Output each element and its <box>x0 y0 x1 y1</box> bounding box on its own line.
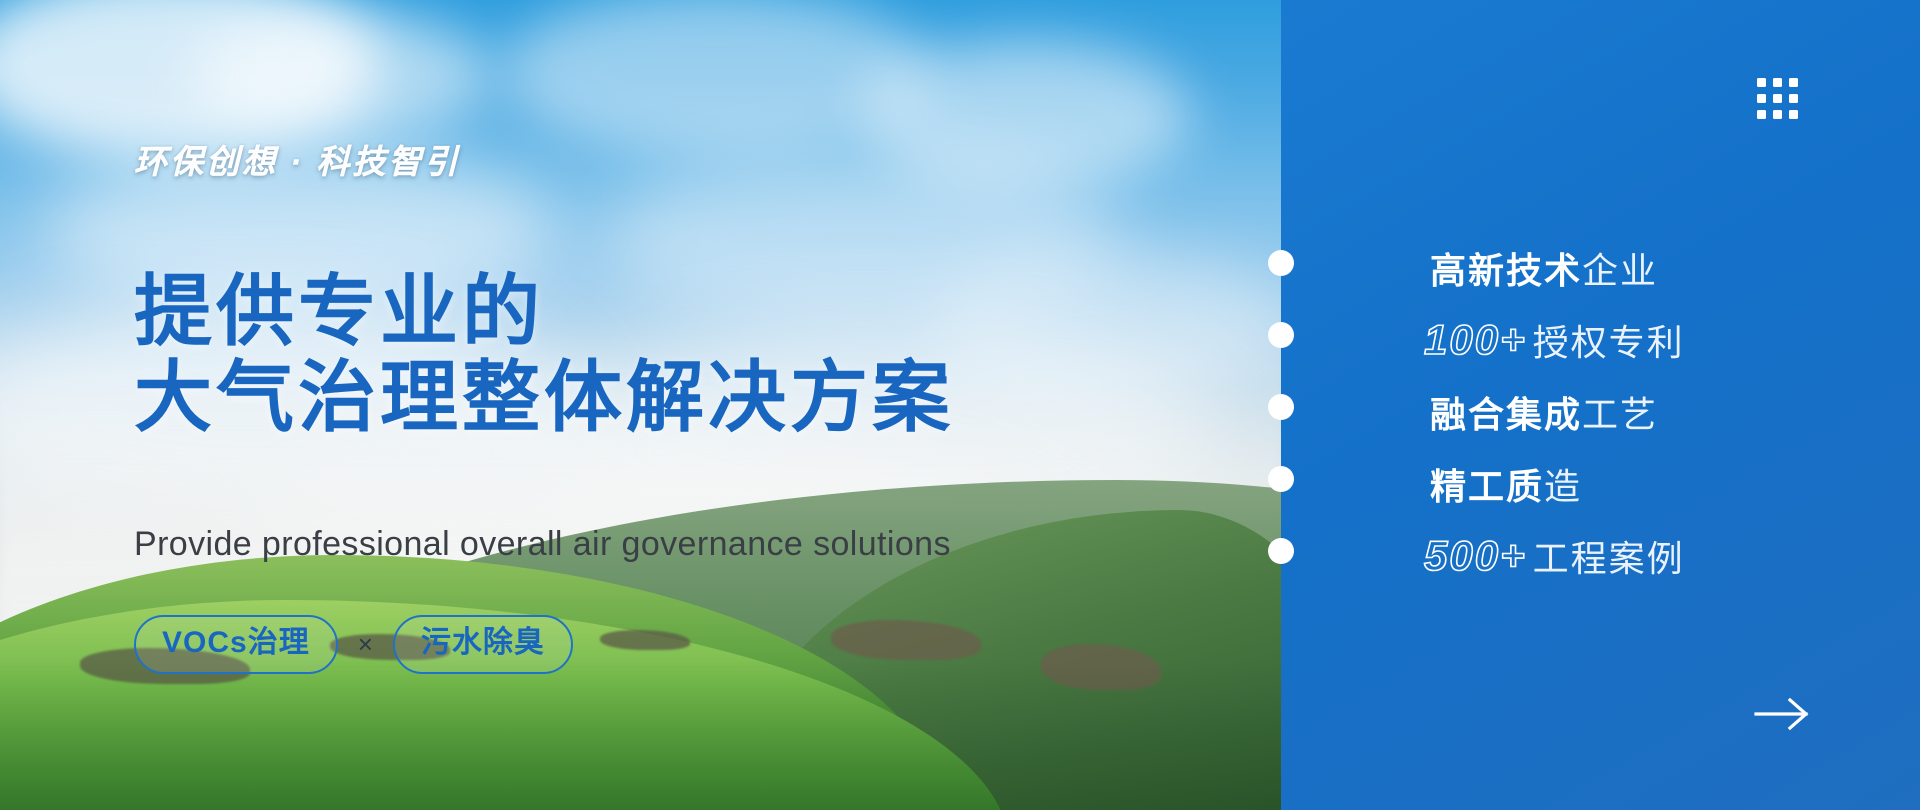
page-title: 提供专业的 大气治理整体解决方案 <box>134 268 954 440</box>
list-item: 高新技术 企业 <box>1424 232 1685 304</box>
tag-pill-group: VOCs治理 × 污水除臭 <box>134 615 573 674</box>
pill-separator: × <box>358 629 373 660</box>
grid-dot <box>1773 94 1782 103</box>
feature-light: 工程案例 <box>1533 530 1685 582</box>
edge-dot <box>1268 538 1294 564</box>
grid-dot <box>1789 94 1798 103</box>
edge-dot <box>1268 250 1294 276</box>
edge-dot <box>1268 466 1294 492</box>
grid-menu-icon[interactable] <box>1757 78 1798 119</box>
feature-number: 500+ <box>1424 532 1527 580</box>
pill-deodorization[interactable]: 污水除臭 <box>393 615 573 674</box>
list-item: 100+ 授权专利 <box>1424 304 1685 376</box>
grid-dot <box>1773 78 1782 87</box>
hero-banner: 环保创想 · 科技智引 提供专业的 大气治理整体解决方案 Provide pro… <box>0 0 1920 810</box>
grid-dot <box>1757 78 1766 87</box>
list-item: 精工质 造 <box>1424 448 1685 520</box>
grid-dot <box>1789 110 1798 119</box>
grid-dot <box>1789 78 1798 87</box>
feature-strong: 高新技术 <box>1430 242 1582 294</box>
tagline: 环保创想 · 科技智引 <box>134 135 460 183</box>
headline-line-2: 大气治理整体解决方案 <box>134 354 954 440</box>
feature-number: 100+ <box>1424 316 1527 364</box>
subheadline: Provide professional overall air governa… <box>134 525 951 564</box>
edge-dot <box>1268 322 1294 348</box>
headline-line-1: 提供专业的 <box>134 268 954 354</box>
grid-dot <box>1757 110 1766 119</box>
list-item: 融合集成 工艺 <box>1424 376 1685 448</box>
grid-dot <box>1773 110 1782 119</box>
panel-edge-dots <box>1268 0 1294 810</box>
feature-light: 授权专利 <box>1533 314 1685 366</box>
feature-light: 企业 <box>1582 242 1658 294</box>
feature-list: 高新技术 企业 100+ 授权专利 融合集成 工艺 精工质 造 500+ <box>1424 232 1685 592</box>
pill-vocs[interactable]: VOCs治理 <box>134 615 338 674</box>
hero-copy: 环保创想 · 科技智引 提供专业的 大气治理整体解决方案 Provide pro… <box>134 0 1134 810</box>
feature-strong: 精工质 <box>1430 458 1544 510</box>
feature-panel: 高新技术 企业 100+ 授权专利 融合集成 工艺 精工质 造 500+ <box>1281 0 1920 810</box>
feature-strong: 融合集成 <box>1430 386 1582 438</box>
feature-light: 造 <box>1544 458 1582 510</box>
edge-dot <box>1268 394 1294 420</box>
arrow-right-icon[interactable] <box>1750 694 1814 734</box>
list-item: 500+ 工程案例 <box>1424 520 1685 592</box>
feature-light: 工艺 <box>1582 386 1658 438</box>
grid-dot <box>1757 94 1766 103</box>
